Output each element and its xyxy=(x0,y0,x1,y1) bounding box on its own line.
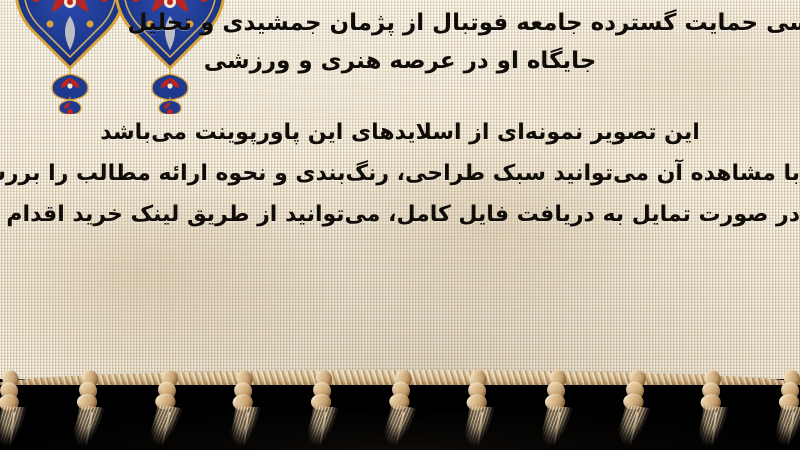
slide-body-line-2: با مشاهده آن می‌توانید سبک طراحی، رنگ‌بن… xyxy=(0,163,800,185)
slide-body-line-1: این تصویر نمونه‌ای از اسلایدهای این پاور… xyxy=(0,122,800,144)
slide-body-line-3: در صورت تمایل به دریافت فایل کامل، می‌تو… xyxy=(0,204,800,226)
slide-title-line-1: سی حمایت گسترده جامعه فوتبال از پژمان جم… xyxy=(0,12,800,35)
presentation-slide: سی حمایت گسترده جامعه فوتبال از پژمان جم… xyxy=(0,0,800,450)
slide-title-line-2: جایگاه او در عرصه هنری و ورزشی xyxy=(16,50,784,73)
